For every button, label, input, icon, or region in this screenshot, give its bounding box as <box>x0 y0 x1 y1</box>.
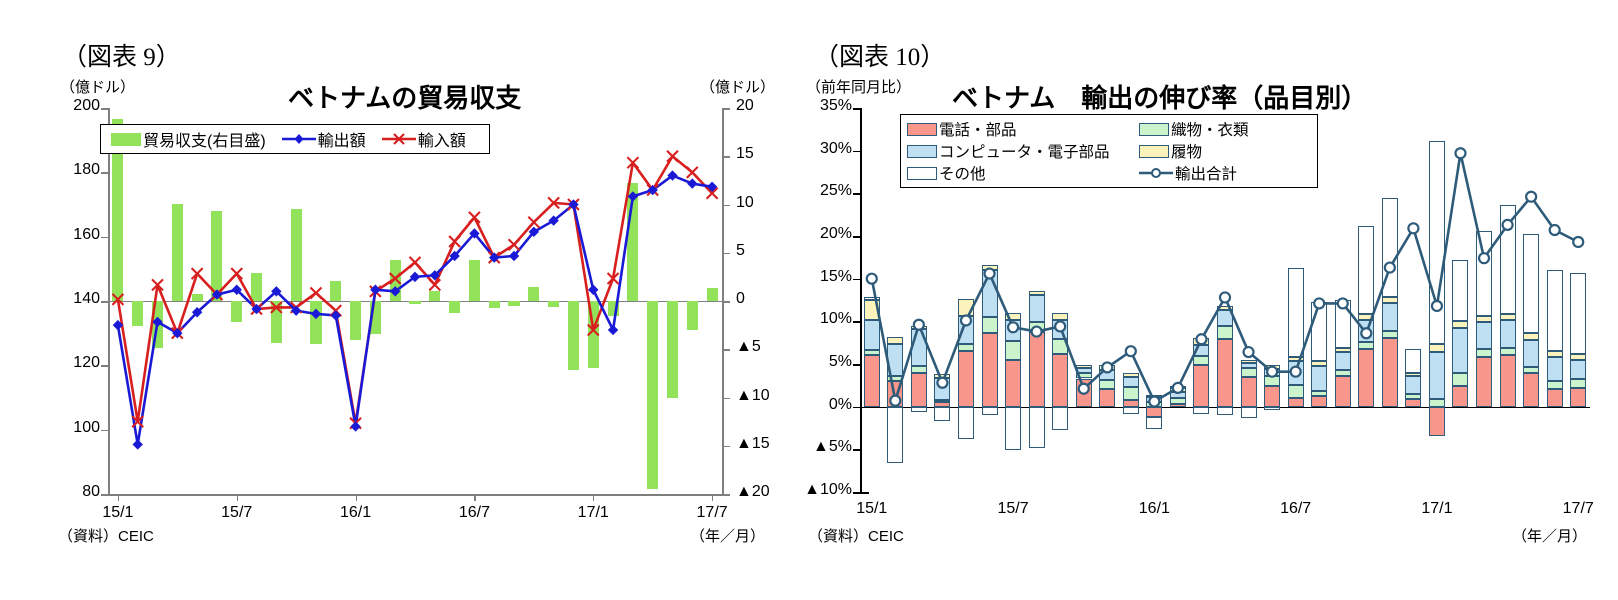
legend-swatch-footwear-icon <box>1139 145 1169 158</box>
legend-export-growth: 電話・部品 織物・衣類 コンピュータ・電子部品 履物 その他 <box>900 114 1318 188</box>
legend-label-textiles: 織物・衣類 <box>1171 118 1249 140</box>
x-tick-label: 15/7 <box>967 500 1059 518</box>
chart-panel-trade-balance: （図表 9） （億ドル） （億ドル） ベトナムの貿易収支 20018016014… <box>0 0 800 600</box>
legend-swatch-textiles-icon <box>1139 123 1169 136</box>
chart-panel-export-growth: （図表 10） （前年同月比） ベトナム 輸出の伸び率（品目別） 35%30%2… <box>800 0 1618 600</box>
legend-item-textiles: 織物・衣類 <box>1139 118 1311 140</box>
legend-line-circle-icon <box>1139 166 1173 180</box>
x-tick-label: 17/1 <box>547 504 639 522</box>
source-label-9: （資料）CEIC <box>58 525 154 546</box>
x-tick <box>712 494 713 501</box>
legend-swatch-others-icon <box>907 167 937 180</box>
legend-label-trade-balance: 貿易収支(右目盛) <box>143 127 266 151</box>
year-month-label-10: （年／月） <box>1512 525 1587 546</box>
legend-item-total-exports: 輸出合計 <box>1139 162 1311 184</box>
x-tick-label: 17/7 <box>666 504 758 522</box>
legend-item-others: その他 <box>907 162 1139 184</box>
x-tick-label: 16/7 <box>428 504 520 522</box>
x-tick-label: 17/7 <box>1532 500 1618 518</box>
plot-area-export-growth: 35%30%25%20%15%10%5%0%▲5%▲10%15/115/716/… <box>800 0 1618 600</box>
legend-item-exports: 輸出額 <box>282 127 366 151</box>
x-tick <box>118 494 119 501</box>
legend-item-footwear: 履物 <box>1139 140 1311 162</box>
x-tick <box>356 494 357 501</box>
legend-label-phones: 電話・部品 <box>939 118 1017 140</box>
legend-swatch-computers-icon <box>907 145 937 158</box>
plot-area-trade-balance: 2001801601401201008020151050▲5▲10▲15▲201… <box>0 0 800 600</box>
legend-label-footwear: 履物 <box>1171 140 1202 162</box>
source-label-10: （資料）CEIC <box>808 525 904 546</box>
legend-item-imports: 輸入額 <box>382 127 466 151</box>
x-tick-label: 15/1 <box>826 500 918 518</box>
x-tick-label: 16/1 <box>310 504 402 522</box>
x-tick <box>593 494 594 501</box>
x-tick-label: 16/1 <box>1108 500 1200 518</box>
year-month-label-9: （年／月） <box>690 525 765 546</box>
legend-swatch-phones-icon <box>907 123 937 136</box>
legend-label-exports: 輸出額 <box>318 127 366 151</box>
legend-trade-balance: 貿易収支(右目盛) 輸出額 輸入額 <box>100 124 490 154</box>
total-export-line <box>800 0 1618 600</box>
legend-label-total-exports: 輸出合計 <box>1175 162 1237 184</box>
x-tick-label: 15/7 <box>191 504 283 522</box>
legend-label-imports: 輸入額 <box>418 127 466 151</box>
legend-item-trade-balance: 貿易収支(右目盛) <box>111 127 266 151</box>
legend-item-computers: コンピュータ・電子部品 <box>907 140 1139 162</box>
legend-item-phones: 電話・部品 <box>907 118 1139 140</box>
legend-label-computers: コンピュータ・電子部品 <box>939 140 1110 162</box>
legend-label-others: その他 <box>939 162 986 184</box>
x-tick-label: 17/1 <box>1391 500 1483 518</box>
x-tick <box>237 494 238 501</box>
legend-line-diamond-icon <box>282 132 316 146</box>
x-tick-label: 16/7 <box>1250 500 1342 518</box>
legend-line-x-icon <box>382 132 416 146</box>
x-tick <box>474 494 475 501</box>
figure-page: （図表 9） （億ドル） （億ドル） ベトナムの貿易収支 20018016014… <box>0 0 1618 600</box>
x-axis-stub <box>860 492 869 494</box>
x-tick-label: 15/1 <box>72 504 164 522</box>
legend-swatch-bar-icon <box>111 133 141 146</box>
